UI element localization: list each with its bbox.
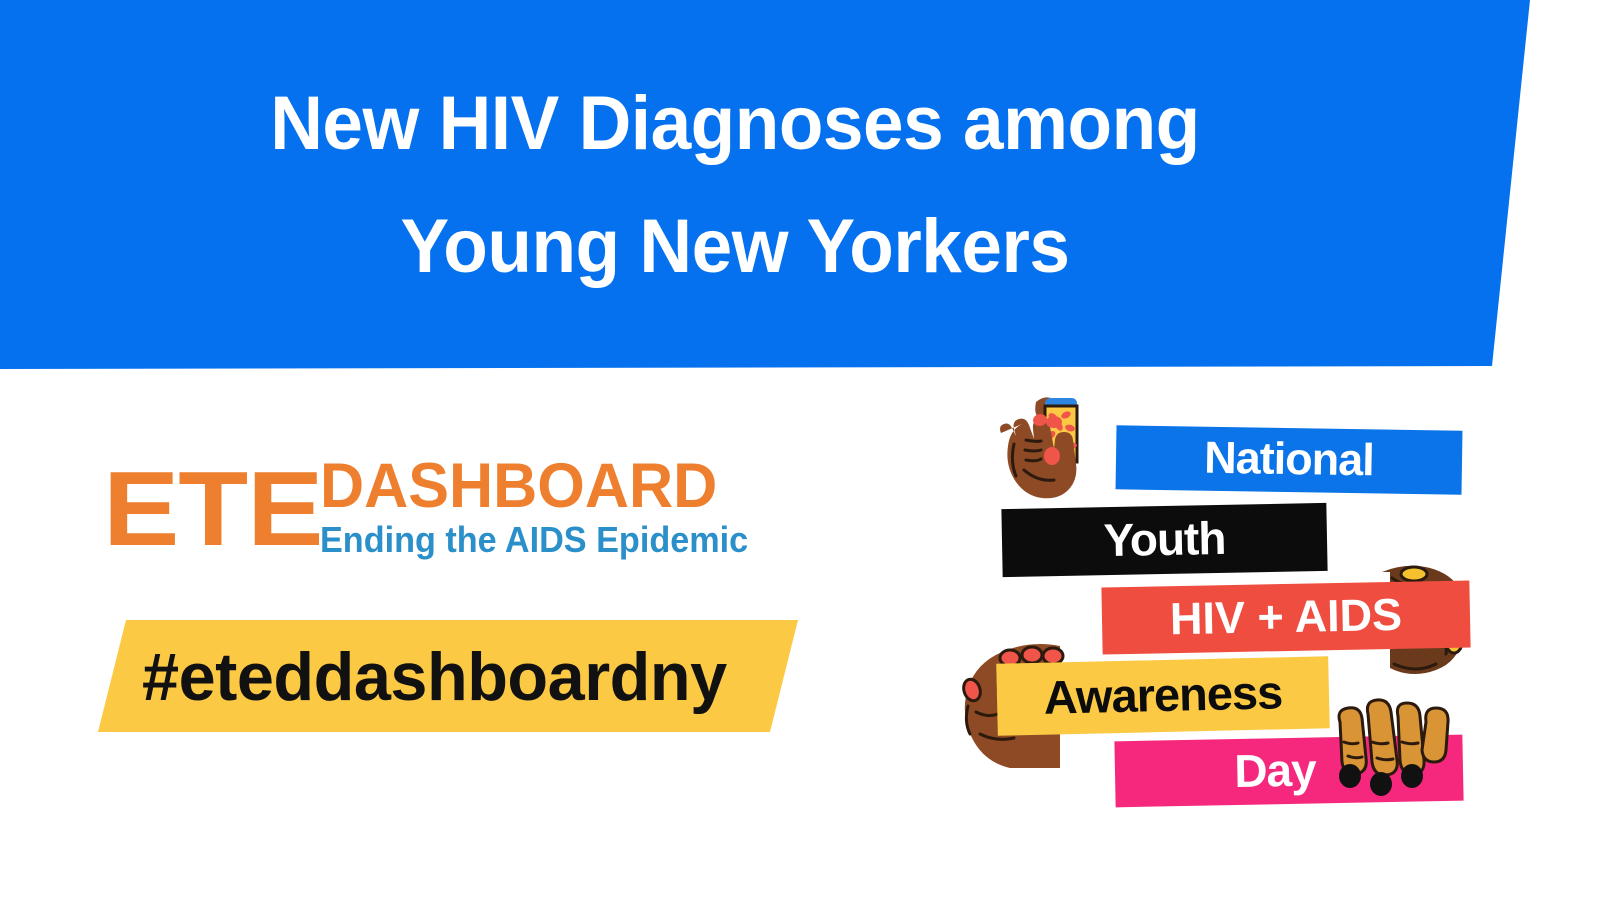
poster-canvas: New HIV Diagnoses among Young New Yorker… bbox=[0, 0, 1600, 900]
ete-dashboard-logo: ETE DASHBOARD Ending the AIDS Epidemic bbox=[103, 455, 771, 561]
hand-holding-pill-bottle-icon bbox=[984, 380, 1094, 500]
ete-logo-tagline: Ending the AIDS Epidemic bbox=[320, 519, 748, 561]
awareness-day-graphic: National Youth HIV + AIDS Awareness Day bbox=[950, 380, 1510, 820]
page-title: New HIV Diagnoses among Young New Yorker… bbox=[29, 62, 1440, 308]
hashtag-label: #eteddashboardny bbox=[142, 638, 727, 716]
awareness-bar-awareness-label: Awareness bbox=[1043, 664, 1283, 727]
awareness-bar-national-label: National bbox=[1204, 431, 1374, 489]
awareness-bar-youth: Youth bbox=[1001, 503, 1327, 577]
ete-logo-mark: ETE bbox=[103, 457, 322, 561]
hashtag-banner: #eteddashboardny bbox=[98, 620, 798, 732]
hand-fingers-over-bar-icon bbox=[1322, 698, 1452, 808]
awareness-bar-youth-label: Youth bbox=[1103, 510, 1226, 569]
ete-logo-wordmark: DASHBOARD bbox=[320, 455, 757, 517]
awareness-bar-hiv-aids-label: HIV + AIDS bbox=[1169, 588, 1402, 646]
awareness-bar-hiv-aids: HIV + AIDS bbox=[1101, 580, 1470, 654]
awareness-bar-national: National bbox=[1116, 425, 1463, 494]
awareness-bar-day-label: Day bbox=[1234, 742, 1316, 801]
awareness-bar-awareness: Awareness bbox=[996, 656, 1330, 736]
